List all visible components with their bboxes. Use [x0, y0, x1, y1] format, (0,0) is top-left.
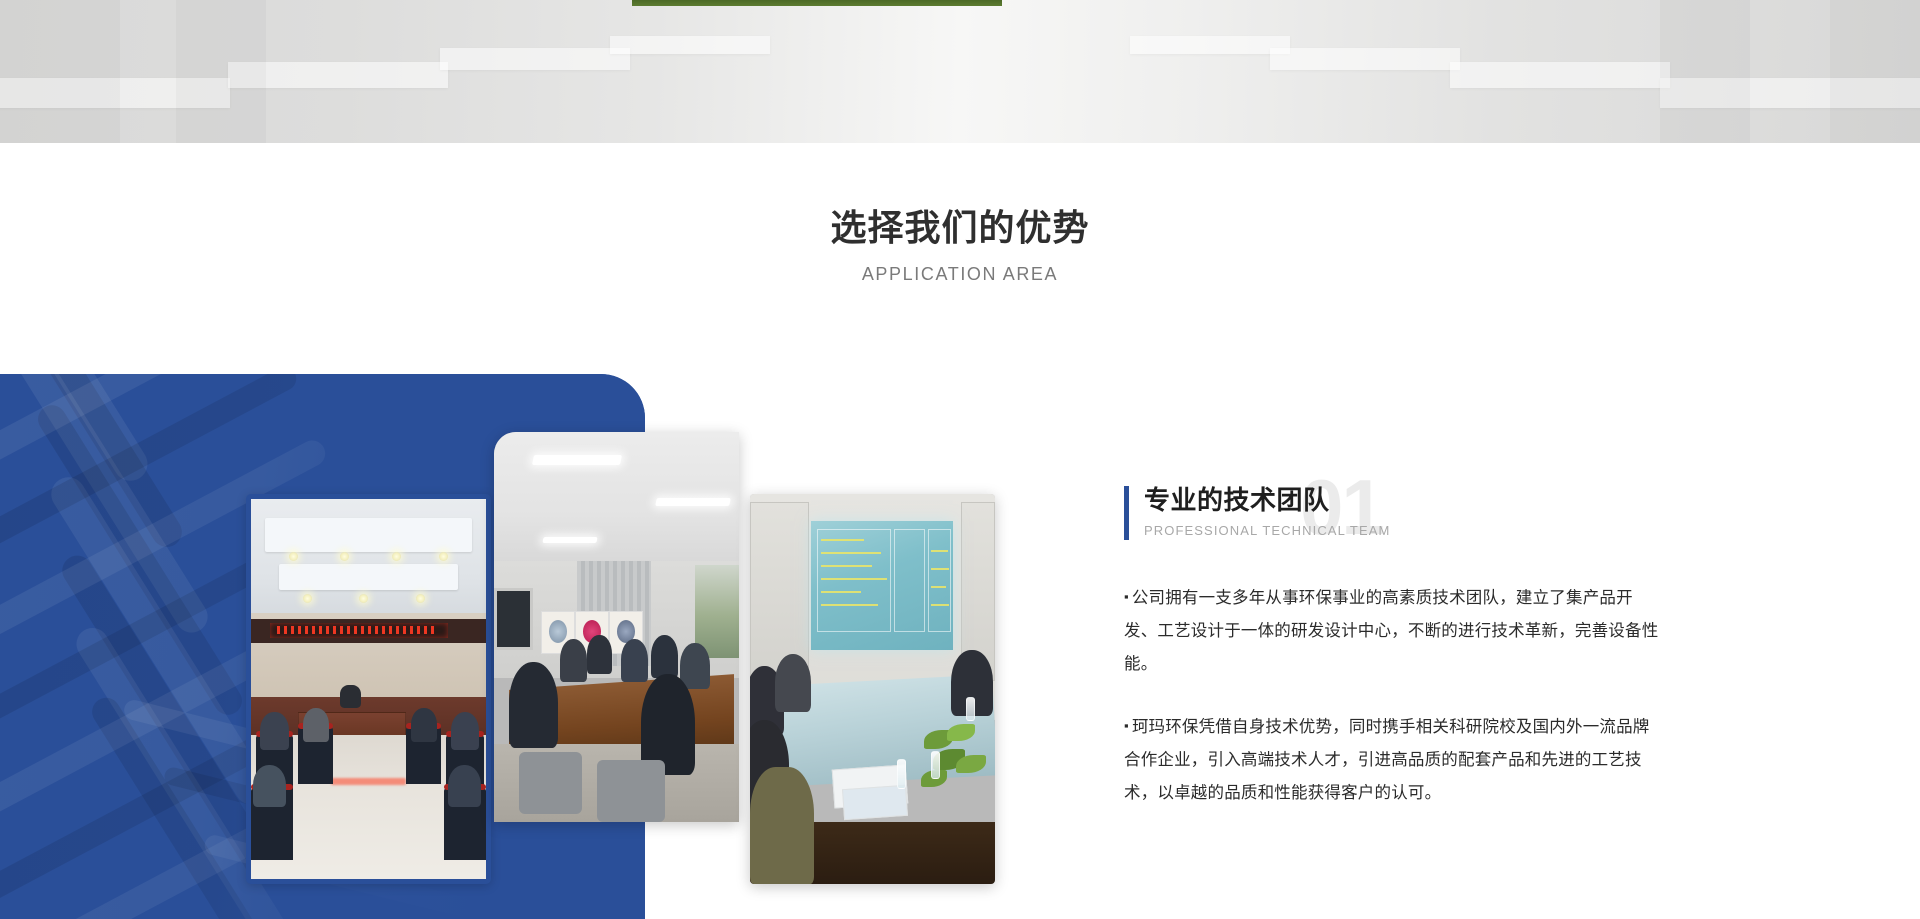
hero-column-shade — [1830, 0, 1920, 143]
hero-slab — [1450, 62, 1670, 88]
hero-column-shade — [1660, 0, 1750, 143]
feature-header: 01 专业的技术团队 PROFESSIONAL TECHNICAL TEAM — [1124, 484, 1664, 538]
hero-banner-strip — [0, 0, 1920, 143]
projector-meeting-photo[interactable] — [750, 494, 995, 884]
feature-paragraph-text: 珂玛环保凭借自身技术优势，同时携手相关科研院校及国内外一流品牌合作企业，引入高端… — [1124, 718, 1650, 802]
section-header: 选择我们的优势 APPLICATION AREA — [0, 143, 1920, 285]
feature-paragraph: ▪公司拥有一支多年从事环保事业的高素质技术团队，建立了集产品开发、工艺设计于一体… — [1124, 582, 1664, 681]
feature-paragraph-text: 公司拥有一支多年从事环保事业的高素质技术团队，建立了集产品开发、工艺设计于一体的… — [1124, 589, 1658, 673]
hero-slab — [440, 48, 630, 70]
page-subtitle: APPLICATION AREA — [0, 264, 1920, 285]
feature-content: 01 专业的技术团队 PROFESSIONAL TECHNICAL TEAM ▪… — [1124, 484, 1664, 810]
bullet-marker: ▪ — [1124, 718, 1132, 733]
conference-room-photo[interactable] — [494, 432, 739, 822]
page-title: 选择我们的优势 — [0, 205, 1920, 250]
bullet-marker: ▪ — [1124, 589, 1132, 604]
whiteboard — [494, 588, 533, 650]
speaker-person — [340, 685, 361, 708]
hero-column-shade — [0, 0, 120, 143]
hero-grass-strip — [632, 0, 1002, 6]
potted-plant — [917, 720, 991, 806]
hero-slab — [610, 36, 770, 54]
auditorium-photo[interactable] — [246, 494, 491, 884]
feature-body: ▪公司拥有一支多年从事环保事业的高素质技术团队，建立了集产品开发、工艺设计于一体… — [1124, 582, 1664, 810]
hero-slab — [1270, 48, 1460, 70]
hero-slab — [1130, 36, 1290, 54]
hero-column-shade — [176, 0, 266, 143]
accent-bar — [1124, 486, 1129, 540]
projector-screen — [811, 521, 953, 650]
led-banner — [270, 623, 449, 638]
feature-subtitle: PROFESSIONAL TECHNICAL TEAM — [1144, 523, 1664, 538]
feature-paragraph: ▪珂玛环保凭借自身技术优势，同时携手相关科研院校及国内外一流品牌合作企业，引入高… — [1124, 711, 1664, 810]
feature-title: 专业的技术团队 — [1144, 484, 1664, 517]
